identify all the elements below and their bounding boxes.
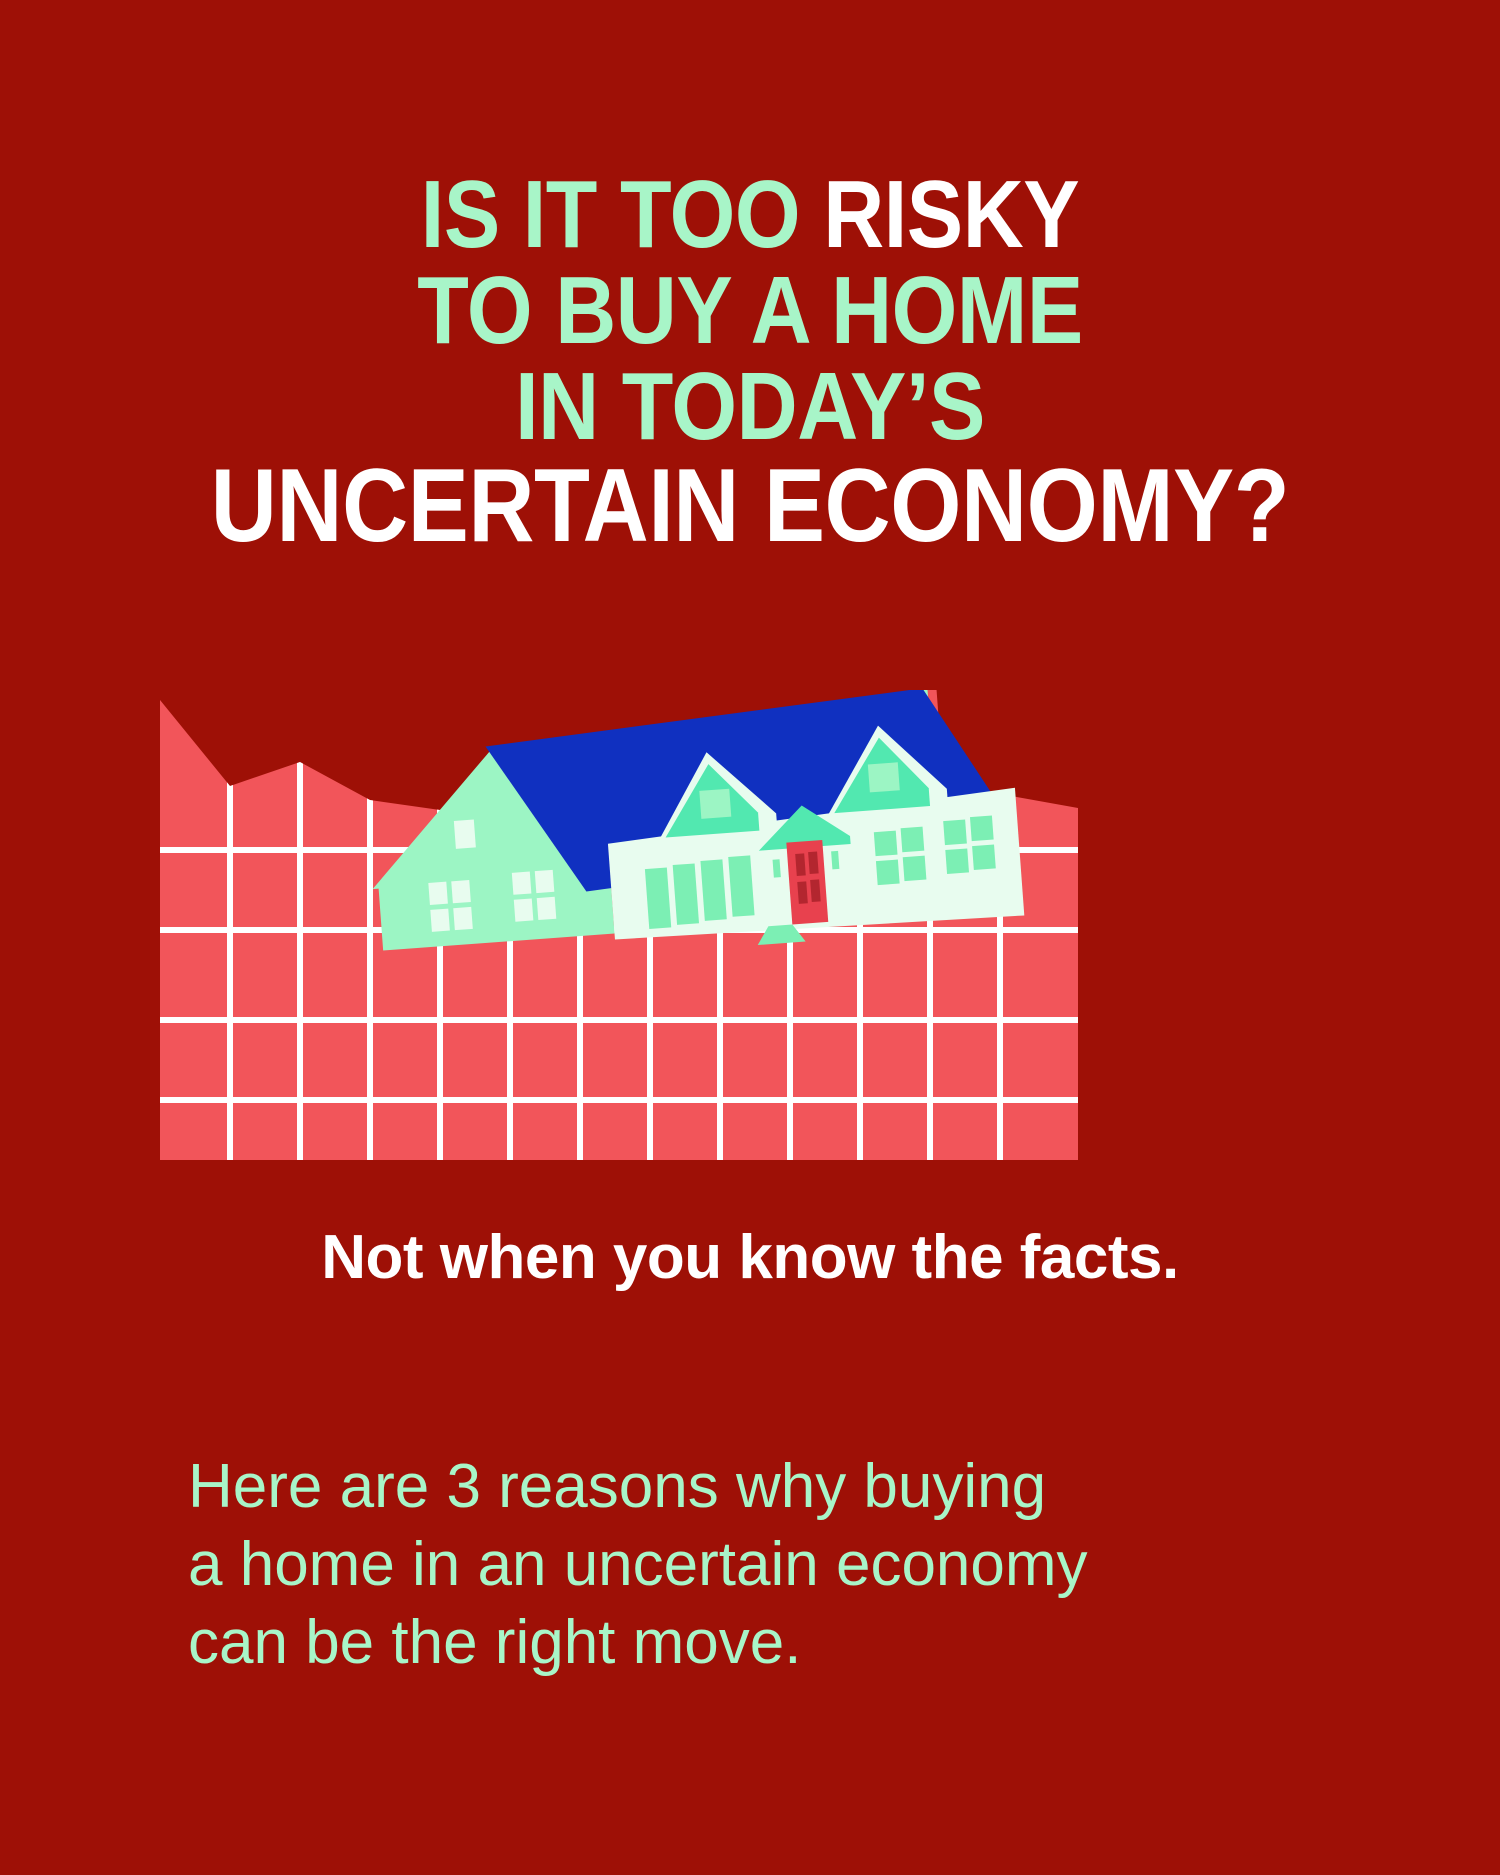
sidelight-right — [831, 851, 839, 869]
headline-line-3: IN TODAY’S — [90, 360, 1410, 454]
body-line-2: a home in an uncertain economy — [188, 1526, 1348, 1604]
house-illustration — [140, 690, 1100, 1170]
body-line-1: Here are 3 reasons why buying — [188, 1448, 1348, 1526]
body-line-3: can be the right move. — [188, 1604, 1348, 1682]
front-door — [786, 840, 828, 924]
hero-illustration — [140, 690, 1100, 1170]
tagline: Not when you know the facts. — [0, 1222, 1500, 1293]
headline-line-1: IS IT TOO RISKY — [90, 168, 1410, 262]
poster-canvas: IS IT TOO RISKY TO BUY A HOME IN TODAY’S… — [0, 0, 1500, 1875]
page-title: IS IT TOO RISKY TO BUY A HOME IN TODAY’S… — [0, 168, 1500, 558]
sidelight-left — [773, 859, 781, 877]
headline-line-1-white: RISKY — [823, 161, 1079, 268]
headline-line-4: UNCERTAIN ECONOMY? — [90, 456, 1410, 558]
gable-attic-window — [454, 820, 476, 849]
headline-line-2: TO BUY A HOME — [90, 264, 1410, 358]
headline-line-1-mint: IS IT TOO — [421, 161, 823, 268]
body-copy: Here are 3 reasons why buying a home in … — [188, 1448, 1348, 1682]
